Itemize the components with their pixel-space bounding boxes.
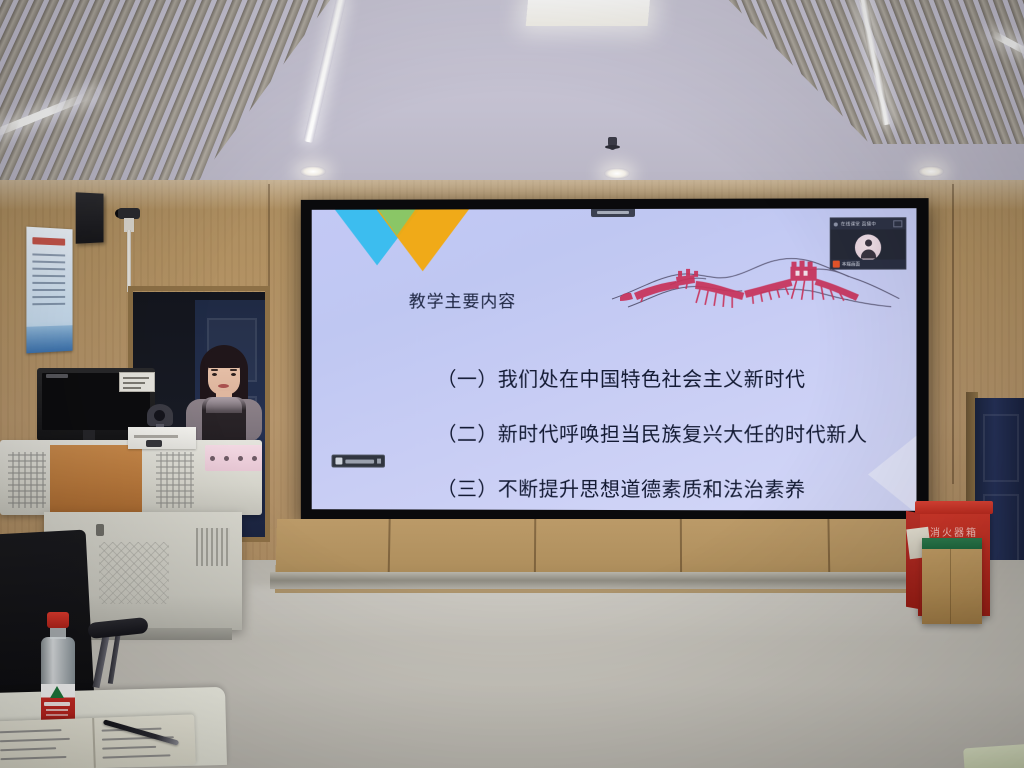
slide-canvas: 教学主要内容 （一）我们处在中国特色社会主义新时代 （二）新时代呼唤担当民族复兴… — [312, 208, 917, 511]
notebook-spine — [92, 718, 96, 768]
slide-bullet-2: （二）新时代呼唤担当民族复兴大任的时代新人 — [437, 418, 887, 448]
podium-knob[interactable] — [238, 456, 243, 461]
camera-pole — [127, 230, 131, 292]
slide-bullet-3: （三）不断提升思想道德素质和法治素养 — [437, 473, 887, 503]
equipment-label-tag — [119, 372, 155, 392]
ceiling-downlight — [604, 168, 630, 179]
participant-avatar — [855, 234, 881, 260]
meeting-video-overlay[interactable]: 在线课堂 直播中 本端画面 — [830, 217, 907, 269]
monitor-brand-logo — [46, 374, 68, 378]
minimize-icon[interactable] — [893, 220, 902, 227]
classroom-scene: 教学主要内容 （一）我们处在中国特色社会主义新时代 （二）新时代呼唤担当民族复兴… — [0, 0, 1024, 768]
podium-knob[interactable] — [210, 456, 215, 461]
status-dot-icon — [834, 222, 838, 226]
presenter-mesh-panel — [206, 397, 242, 413]
presentation-display[interactable]: 教学主要内容 （一）我们处在中国特色社会主义新时代 （二）新时代呼唤担当民族复兴… — [301, 198, 929, 525]
cabinet-lid — [915, 501, 993, 514]
podium-speaker-grille — [8, 452, 46, 508]
participant-label: 本端画面 — [842, 261, 860, 267]
taskbar-app-label — [345, 459, 374, 463]
podium-white-box — [128, 427, 196, 449]
presenter-fringe — [205, 350, 243, 368]
bottle-neck — [50, 627, 66, 639]
meeting-footer-bar: 本端画面 — [831, 259, 906, 268]
meeting-window-titlebar[interactable]: 在线课堂 直播中 — [831, 218, 906, 229]
notice-poster — [26, 227, 72, 354]
taskbar-app-chip[interactable] — [332, 455, 385, 468]
podium-knob[interactable] — [252, 456, 257, 461]
box-tape — [922, 538, 982, 549]
bottle-brand-text — [44, 702, 70, 706]
wall-speaker — [76, 192, 104, 243]
display-panel: 教学主要内容 （一）我们处在中国特色社会主义新时代 （二）新时代呼唤担当民族复兴… — [312, 208, 917, 511]
ceiling-sprinkler — [608, 137, 617, 150]
desk-conference-camera — [147, 404, 173, 426]
camera-lens-icon — [154, 410, 165, 421]
poster-heading — [32, 237, 65, 246]
fire-cabinet-label: 消火器箱 — [922, 524, 986, 539]
slide-bullet-1: （一）我们处在中国特色社会主义新时代 — [437, 363, 887, 392]
wall-seam — [952, 184, 954, 484]
recording-badge-icon — [833, 261, 840, 268]
ceiling-skylight-panel — [526, 0, 651, 26]
screen-top-chip[interactable] — [591, 208, 635, 217]
podium-wood-front — [50, 445, 142, 513]
water-bottle[interactable] — [40, 612, 76, 730]
ceiling-downlight — [300, 166, 326, 177]
presenter-lips — [218, 384, 229, 388]
foreground-desk-right — [963, 744, 1024, 768]
podium-control-panel[interactable] — [205, 445, 262, 471]
avatar-head-icon — [865, 239, 872, 246]
bottle-cap — [47, 612, 69, 628]
triangle-overlap-decor — [377, 208, 417, 235]
slide-bullet-list: （一）我们处在中国特色社会主义新时代 （二）新时代呼唤担当民族复兴大任的时代新人… — [397, 363, 886, 511]
taskbar-caret-icon — [377, 459, 381, 464]
podium-vents — [196, 528, 230, 566]
cardboard-box — [922, 538, 982, 624]
cabinet-side-panel — [906, 511, 920, 609]
podium-diamond-pattern — [99, 542, 169, 604]
podium-speaker-grille — [156, 452, 194, 508]
slide-title: 教学主要内容 — [409, 287, 516, 312]
avatar-body-icon — [860, 249, 875, 258]
app-icon — [335, 458, 342, 465]
podium-lock[interactable] — [96, 524, 104, 536]
bottle-logo-icon — [50, 686, 64, 698]
podium-knob[interactable] — [224, 456, 229, 461]
ceiling-downlight — [918, 166, 944, 177]
meeting-window-title: 在线课堂 直播中 — [841, 221, 876, 227]
floor-reflection — [250, 586, 950, 646]
